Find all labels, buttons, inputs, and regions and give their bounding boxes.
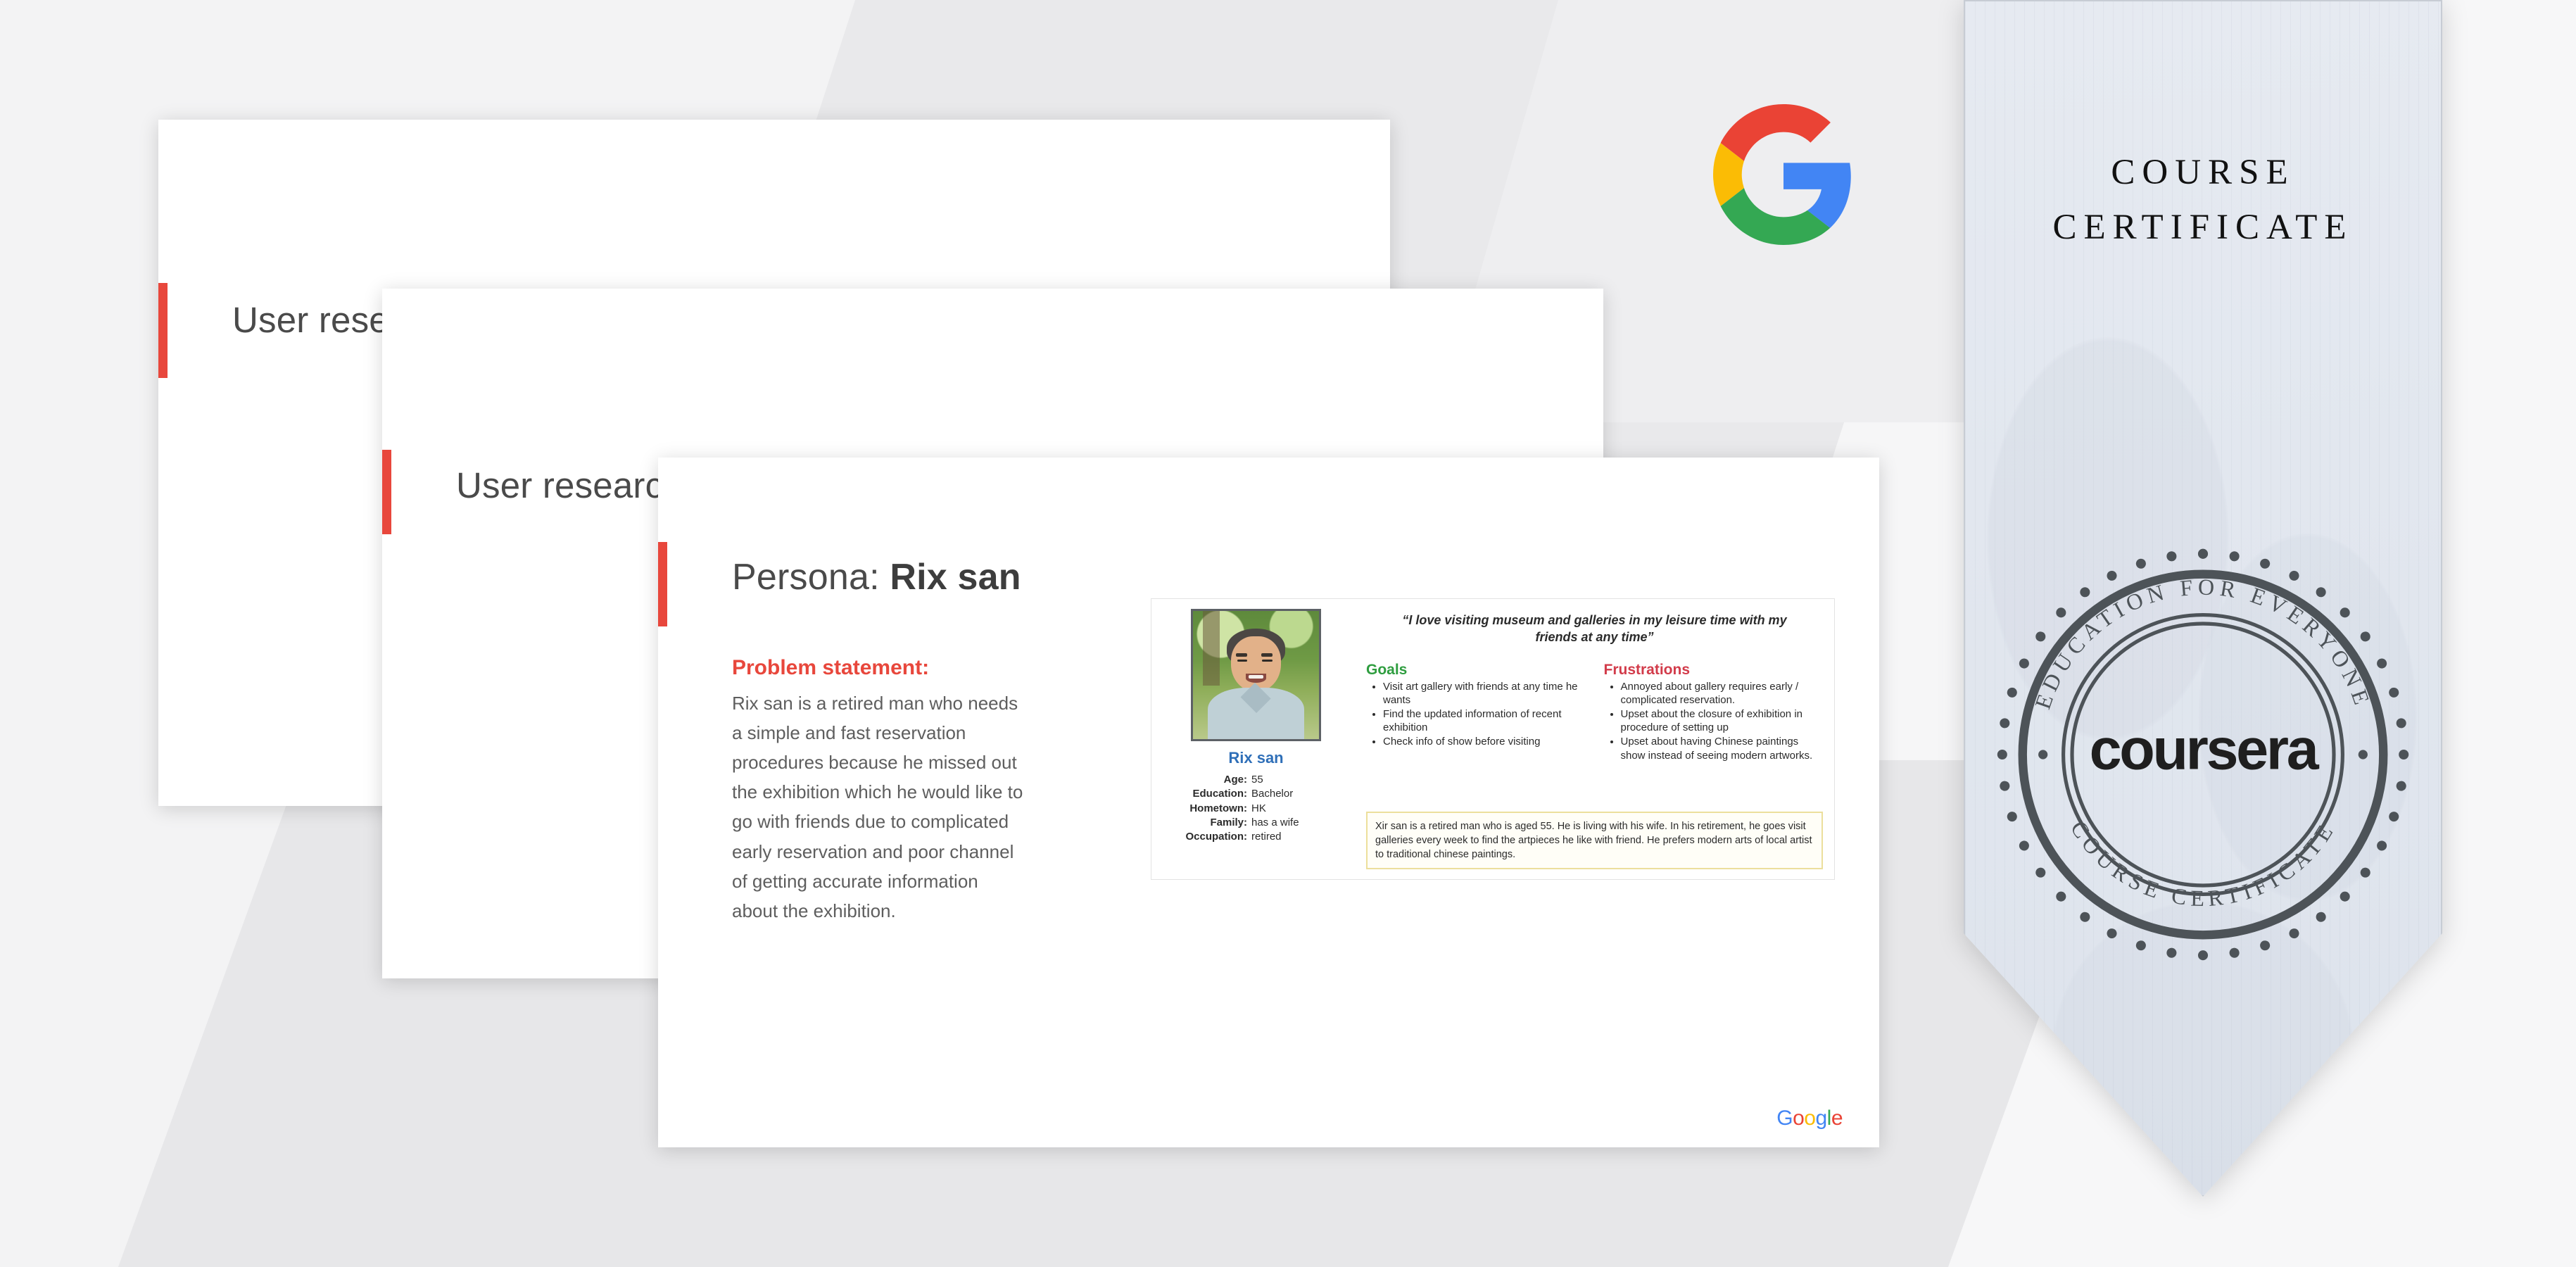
persona-frustrations-heading: Frustrations — [1604, 662, 1824, 679]
persona-fact-value: 55 — [1251, 773, 1263, 787]
coursera-wordmark: coursera — [2090, 717, 2320, 782]
slide-accent-bar — [158, 283, 168, 378]
persona-photo — [1191, 609, 1321, 741]
persona-goals-list: Visit art gallery with friends at any ti… — [1366, 680, 1586, 749]
persona-title-prefix: Persona: — [732, 557, 890, 598]
persona-goals-heading: Goals — [1366, 662, 1586, 679]
persona-facts-list: Age: 55 Education: Bachelor Hometown: HK… — [1163, 773, 1349, 844]
persona-fact-row: Occupation: retired — [1163, 830, 1349, 844]
persona-fact-key: Age: — [1163, 773, 1251, 787]
google-g-icon — [1713, 104, 1854, 245]
persona-fact-key: Family: — [1163, 816, 1251, 830]
persona-fact-value: retired — [1251, 830, 1282, 844]
certificate-title: COURSE CERTIFICATE — [1965, 146, 2441, 255]
persona-name: Rix san — [1228, 749, 1283, 767]
persona-fact-row: Hometown: HK — [1163, 802, 1349, 816]
problem-statement-block: Problem statement: Rix san is a retired … — [732, 656, 1028, 926]
list-item: Find the updated information of recent e… — [1383, 707, 1586, 734]
list-item: Check info of show before visiting — [1383, 735, 1586, 748]
seal-bottom-arc-text: COURSE CERTIFICATE — [2066, 817, 2340, 912]
persona-title-name: Rix san — [890, 557, 1021, 598]
course-certificate-bookmark: COURSE CERTIFICATE — [1964, 0, 2442, 1197]
list-item: Upset about having Chinese paintings sho… — [1621, 735, 1824, 762]
list-item: Annoyed about gallery requires early / c… — [1621, 680, 1824, 707]
persona-fact-value: has a wife — [1251, 816, 1299, 830]
persona-fact-row: Family: has a wife — [1163, 816, 1349, 830]
certificate-title-line-2: CERTIFICATE — [1965, 201, 2441, 256]
list-item: Visit art gallery with friends at any ti… — [1383, 680, 1586, 707]
persona-frustrations-list: Annoyed about gallery requires early / c… — [1604, 680, 1824, 762]
persona-fact-row: Education: Bachelor — [1163, 787, 1349, 801]
persona-fact-value: HK — [1251, 802, 1266, 816]
persona-fact-row: Age: 55 — [1163, 773, 1349, 787]
persona-detail-column: “I love visiting museum and galleries in… — [1349, 609, 1823, 869]
persona-profile-column: Rix san Age: 55 Education: Bachelor Home… — [1163, 609, 1349, 869]
slide-title-persona: Persona: Rix san — [732, 556, 1021, 598]
persona-fact-key: Occupation: — [1163, 830, 1251, 844]
persona-fact-value: Bachelor — [1251, 787, 1293, 801]
svg-text:COURSE CERTIFICATE: COURSE CERTIFICATE — [2066, 817, 2340, 912]
coursera-seal: EDUCATION FOR EVERYONE COURSE CERTIFICAT… — [1985, 536, 2421, 973]
persona-fact-key: Education: — [1163, 787, 1251, 801]
problem-statement-heading: Problem statement: — [732, 656, 1028, 680]
problem-statement-body: Rix san is a retired man who needs a sim… — [732, 688, 1028, 926]
list-item: Upset about the closure of exhibition in… — [1621, 707, 1824, 734]
certificate-title-line-1: COURSE — [1965, 146, 2441, 201]
google-wordmark-footer: Google — [1776, 1107, 1843, 1130]
slide-accent-bar — [382, 450, 391, 534]
persona-quote: “I love visiting museum and galleries in… — [1366, 609, 1823, 646]
persona-fact-key: Hometown: — [1163, 802, 1251, 816]
persona-goals-frustrations: Goals Visit art gallery with friends at … — [1366, 662, 1823, 763]
persona-bio-box: Xir san is a retired man who is aged 55.… — [1366, 812, 1823, 869]
persona-goals-column: Goals Visit art gallery with friends at … — [1366, 662, 1586, 763]
persona-card: Rix san Age: 55 Education: Bachelor Home… — [1151, 598, 1835, 880]
slide-accent-bar — [658, 542, 667, 626]
slide-persona-rix-san[interactable]: Persona: Rix san Problem statement: Rix … — [658, 458, 1879, 1147]
persona-frustrations-column: Frustrations Annoyed about gallery requi… — [1604, 662, 1824, 763]
